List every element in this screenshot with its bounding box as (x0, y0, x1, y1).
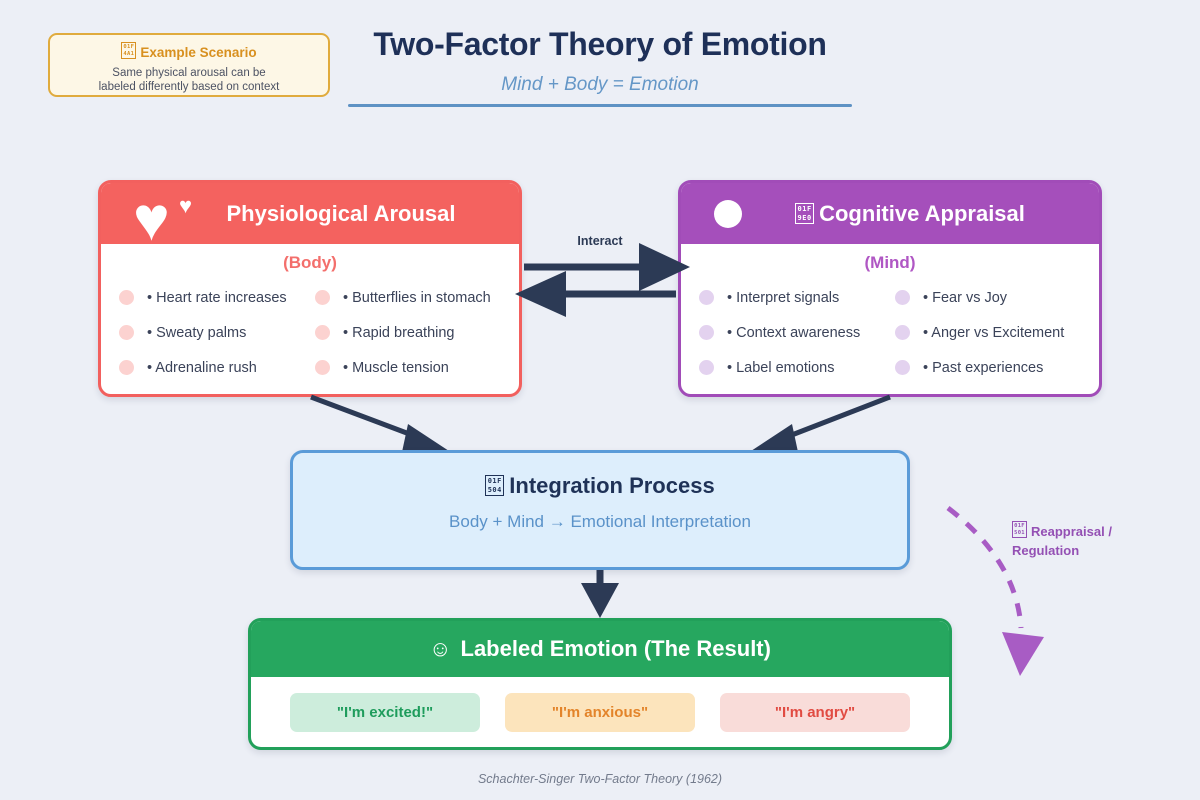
bullet-dot-icon (895, 360, 910, 375)
bullet-dot-icon (895, 325, 910, 340)
bullet-dot-icon (119, 360, 134, 375)
card-cognitive-appraisal-subtitle: (Mind) (681, 253, 1099, 273)
list-item-label: • Butterflies in stomach (343, 290, 491, 306)
brain-icon: 01F9E0 (795, 203, 814, 224)
bullet-dot-icon (699, 360, 714, 375)
cognitive-appraisal-item-list: • Interpret signals • Fear vs Joy • Cont… (681, 273, 1099, 385)
footer-caption: Schachter-Singer Two-Factor Theory (1962… (0, 772, 1200, 786)
integration-process-title: 01F504Integration Process (293, 473, 907, 499)
emotion-chip-row: "I'm excited!" "I'm anxious" "I'm angry" (251, 693, 949, 732)
bullet-dot-icon (315, 325, 330, 340)
list-item-label: • Past experiences (923, 360, 1043, 376)
arrow-body-to-integration (311, 397, 449, 452)
list-item-label: • Fear vs Joy (923, 290, 1007, 306)
list-item: • Fear vs Joy (895, 280, 1091, 315)
integration-process-subtitle: Body + Mind → Emotional Interpretation (293, 512, 907, 532)
card-physiological-arousal: ♥ ♥ Physiological Arousal (Body) • Heart… (98, 180, 522, 397)
example-scenario-title: 01F4A1Example Scenario (50, 42, 328, 60)
card-physiological-arousal-title: Physiological Arousal (226, 201, 455, 227)
card-cognitive-appraisal: 01F9E0Cognitive Appraisal (Mind) • Inter… (678, 180, 1102, 397)
list-item: • Rapid breathing (315, 315, 511, 350)
lightbulb-icon: 01F4A1 (121, 42, 136, 59)
emotion-chip-excited[interactable]: "I'm excited!" (290, 693, 480, 732)
list-item-label: • Heart rate increases (147, 290, 287, 306)
integration-process-box: 01F504Integration Process Body + Mind → … (290, 450, 910, 570)
example-scenario-line-1: Same physical arousal can be (50, 66, 328, 81)
list-item: • Butterflies in stomach (315, 280, 511, 315)
list-item: • Heart rate increases (119, 280, 315, 315)
example-scenario-body: Same physical arousal can be labeled dif… (50, 66, 328, 96)
labeled-emotion-card: ☺ Labeled Emotion (The Result) "I'm exci… (248, 618, 952, 750)
list-item: • Past experiences (895, 350, 1091, 385)
list-item: • Adrenaline rush (119, 350, 315, 385)
example-scenario-callout: 01F4A1Example Scenario Same physical aro… (48, 33, 330, 97)
arrow-mind-to-body (515, 271, 676, 317)
bullet-dot-icon (119, 325, 134, 340)
refresh-cycle-icon: 01F504 (485, 475, 504, 496)
heart-icon: ♥ (133, 189, 170, 251)
smiley-icon: ☺ (429, 636, 451, 662)
list-item-label: • Sweaty palms (147, 325, 246, 341)
bullet-dot-icon (119, 290, 134, 305)
labeled-emotion-header: ☺ Labeled Emotion (The Result) (251, 621, 949, 677)
arrow-mind-to-integration (751, 397, 890, 452)
list-item: • Anger vs Excitement (895, 315, 1091, 350)
arrow-body-to-mind (524, 243, 690, 291)
diagram-canvas: 01F4A1Example Scenario Same physical aro… (0, 0, 1200, 800)
list-item-label: • Adrenaline rush (147, 360, 257, 376)
integration-process-title-text: Integration Process (509, 473, 714, 498)
bullet-dot-icon (315, 290, 330, 305)
card-physiological-arousal-header: ♥ ♥ Physiological Arousal (101, 183, 519, 244)
list-item: • Context awareness (699, 315, 895, 350)
arrow-integration-to-result (581, 570, 619, 618)
title-divider (348, 104, 852, 107)
emotion-chip-anxious[interactable]: "I'm anxious" (505, 693, 695, 732)
list-item-label: • Context awareness (727, 325, 860, 341)
physiological-arousal-item-list: • Heart rate increases • Butterflies in … (101, 273, 519, 385)
list-item: • Muscle tension (315, 350, 511, 385)
circle-icon (714, 200, 742, 228)
labeled-emotion-title: Labeled Emotion (The Result) (461, 636, 771, 662)
card-cognitive-appraisal-title-text: Cognitive Appraisal (819, 201, 1025, 226)
heart-small-icon: ♥ (179, 195, 192, 217)
card-cognitive-appraisal-header: 01F9E0Cognitive Appraisal (681, 183, 1099, 244)
interact-label: Interact (530, 234, 670, 248)
list-item: • Interpret signals (699, 280, 895, 315)
bullet-dot-icon (895, 290, 910, 305)
example-scenario-title-text: Example Scenario (140, 45, 256, 60)
bullet-dot-icon (699, 325, 714, 340)
example-scenario-line-2: labeled differently based on context (50, 80, 328, 95)
reappraisal-regulation-label: 01F501Reappraisal / Regulation (1012, 521, 1172, 561)
list-item: • Label emotions (699, 350, 895, 385)
list-item: • Sweaty palms (119, 315, 315, 350)
bullet-dot-icon (699, 290, 714, 305)
bullet-dot-icon (315, 360, 330, 375)
reappraisal-line-1: Reappraisal / (1031, 524, 1112, 539)
page-subtitle: Mind + Body = Emotion (300, 74, 900, 96)
reappraisal-line-2: Regulation (1012, 542, 1172, 561)
page-title: Two-Factor Theory of Emotion (300, 26, 900, 63)
repeat-icon: 01F501 (1012, 521, 1027, 538)
emotion-chip-angry[interactable]: "I'm angry" (720, 693, 910, 732)
list-item-label: • Interpret signals (727, 290, 839, 306)
card-cognitive-appraisal-title: 01F9E0Cognitive Appraisal (795, 201, 1025, 227)
list-item-label: • Rapid breathing (343, 325, 454, 341)
list-item-label: • Anger vs Excitement (923, 325, 1064, 341)
list-item-label: • Muscle tension (343, 360, 449, 376)
card-physiological-arousal-subtitle: (Body) (101, 253, 519, 273)
list-item-label: • Label emotions (727, 360, 834, 376)
